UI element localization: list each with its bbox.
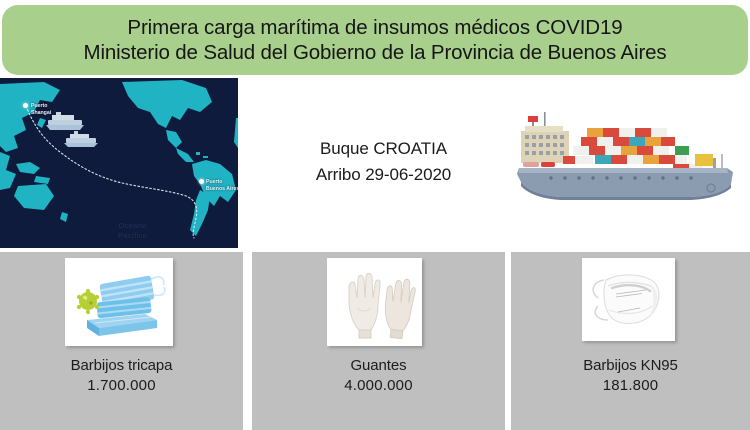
container-ship-icon — [495, 98, 745, 208]
map-origin-dot — [23, 103, 28, 108]
item-caption-3: Barbijos KN95 181.800 — [511, 356, 750, 396]
map-origin-label-line-1: Puerto — [31, 103, 47, 109]
map-destination-label-line-1: Puerto — [206, 179, 222, 185]
slide-root: Primera carga marítima de insumos médico… — [0, 0, 750, 430]
header-banner: Primera carga marítima de insumos médico… — [2, 5, 748, 75]
surgical-mask-svg — [65, 258, 173, 346]
latex-gloves-svg — [327, 258, 422, 346]
kn95-mask-svg — [582, 258, 675, 341]
item-caption-1: Barbijos tricapa 1.700.000 — [0, 356, 243, 396]
map-destination-label-line-2: Buenos Aires — [206, 186, 238, 192]
header-title-line-2: Ministerio de Salud del Gobierno de la P… — [84, 41, 667, 65]
vessel-arrival-date: Arribo 29-06-2020 — [286, 162, 481, 188]
header-title-line-1: Primera carga marítima de insumos médico… — [127, 16, 622, 40]
item-caption-2: Guantes 4.000.000 — [252, 356, 505, 396]
item-name-3: Barbijos KN95 — [511, 356, 750, 376]
map-origin-label-line-2: Shangai — [31, 110, 51, 116]
item-name-2: Guantes — [252, 356, 505, 376]
vessel-name: Buque CROATIA — [286, 136, 481, 162]
kn95-mask-icon — [582, 258, 675, 341]
item-value-1: 1.700.000 — [0, 376, 243, 396]
item-value-3: 181.800 — [511, 376, 750, 396]
route-map: Puerto Shangai Puerto Buenos Aires Océan… — [0, 78, 238, 248]
item-value-2: 4.000.000 — [252, 376, 505, 396]
container-ship-svg — [495, 98, 745, 208]
map-origin-label: Puerto Shangai — [31, 103, 51, 116]
surgical-mask-icon — [65, 258, 173, 346]
item-name-1: Barbijos tricapa — [0, 356, 243, 376]
vessel-info: Buque CROATIA Arribo 29-06-2020 — [286, 136, 481, 187]
cargo-containers — [563, 128, 713, 172]
latex-gloves-icon — [327, 258, 422, 346]
map-destination-label: Puerto Buenos Aires — [206, 179, 238, 192]
map-destination-dot — [199, 179, 204, 184]
